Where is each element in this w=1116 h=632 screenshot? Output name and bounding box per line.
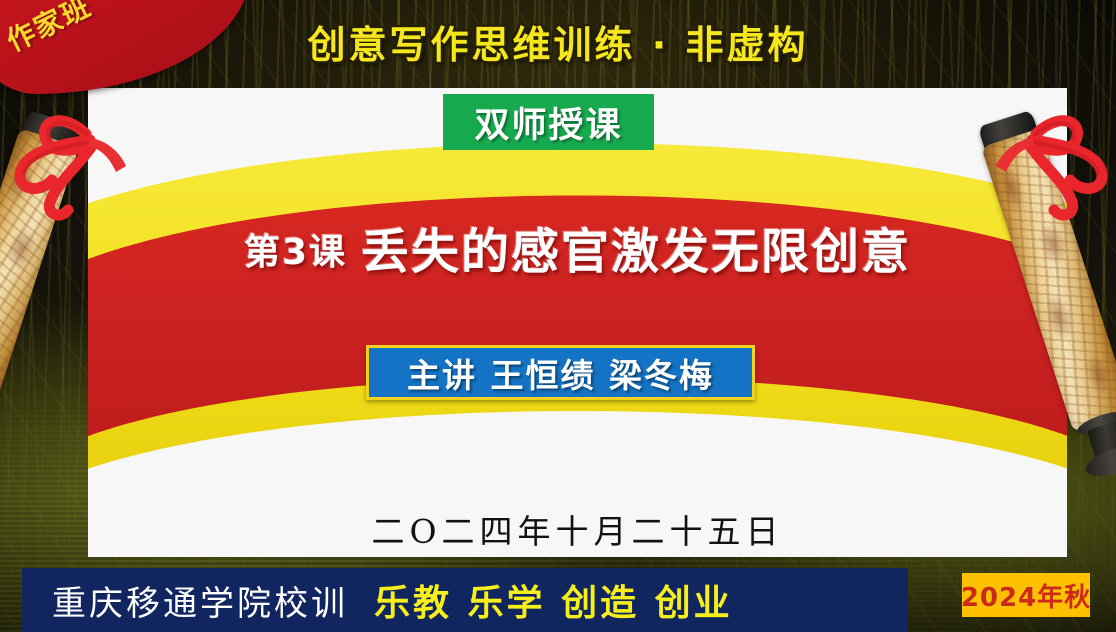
- term-badge-label: 2024年秋: [961, 577, 1091, 614]
- course-title-text: 丢失的感官激发无限创意: [361, 224, 911, 280]
- speaker-names: 主讲 王恒绩 梁冬梅: [407, 349, 714, 397]
- lesson-number: 第3课: [244, 232, 347, 273]
- event-date: 二O二四年十月二十五日: [88, 505, 1067, 553]
- course-title: 第3课丢失的感官激发无限创意: [88, 212, 1067, 282]
- term-badge: 2024年秋: [962, 573, 1090, 617]
- school-motto-words: 乐教 乐学 创造 创业: [374, 574, 733, 626]
- poster-canvas: 作家班 创意写作思维训练 · 非虚构 双师授课 第3课丢失的感官激发无限创意 主…: [0, 0, 1116, 632]
- motto-bar: 重庆移通学院校训 乐教 乐学 创造 创业: [22, 568, 908, 632]
- speaker-plate: 主讲 王恒绩 梁冬梅: [366, 345, 755, 400]
- fan-banner-shape: [88, 88, 1067, 557]
- corner-ribbon-label: 作家班: [0, 0, 98, 60]
- dual-teacher-badge-label: 双师授课: [474, 97, 622, 148]
- fan-banner: [88, 88, 1067, 557]
- school-motto-label: 重庆移通学院校训: [52, 576, 348, 625]
- dual-teacher-badge: 双师授课: [443, 94, 654, 150]
